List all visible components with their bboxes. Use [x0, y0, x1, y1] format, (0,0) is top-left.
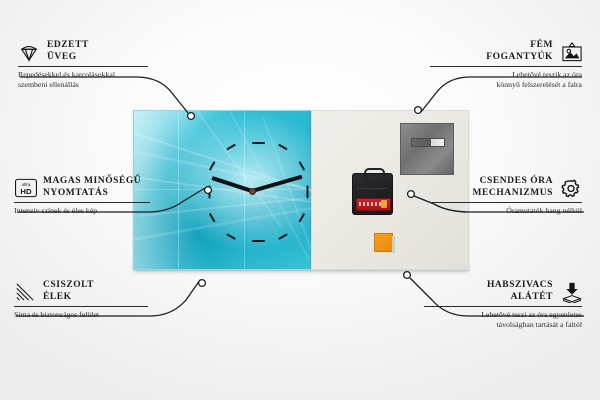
- picture-frame-hanger-icon: [560, 42, 582, 62]
- feature-description: Óramutatók hang nélkül: [430, 206, 582, 216]
- feature-description: Sima és biztonságos felület: [14, 310, 164, 320]
- feature-divider: [14, 202, 150, 203]
- feature-divider: [14, 306, 148, 307]
- svg-text:HD: HD: [20, 186, 32, 195]
- feature-quiet-mechanism: CSENDES ÓRA MECHANIZMUS Óramutatók hang …: [430, 176, 582, 216]
- ultra-hd-icon: ultra HD: [14, 178, 36, 198]
- clock-tick: [252, 240, 265, 242]
- product-image: [133, 110, 467, 270]
- clock-tick: [299, 161, 305, 170]
- feature-divider: [430, 202, 582, 203]
- feature-metal-hangers: FÉM FOGANTYÚK Lehetővé teszik az óra kön…: [430, 40, 582, 90]
- clock-mechanism-part: [352, 173, 393, 215]
- clock-tick: [226, 144, 235, 150]
- clock-tick: [226, 234, 235, 240]
- mechanism-loop: [364, 168, 385, 178]
- feature-divider: [18, 66, 148, 67]
- clock-tick: [278, 144, 287, 150]
- feature-title: MAGAS MINŐSÉGŰ NYOMTATÁS: [43, 176, 141, 199]
- feature-polished-edges: CSISZOLT ÉLEK Sima és biztonságos felüle…: [14, 280, 164, 320]
- battery-label: [359, 202, 381, 206]
- clock-center-hub: [249, 188, 256, 195]
- feature-title: EDZETT ÜVEG: [47, 40, 89, 63]
- feature-title: CSISZOLT ÉLEK: [43, 280, 94, 303]
- foam-pad-part: [374, 233, 393, 252]
- feature-high-quality-print: ultra HD MAGAS MINŐSÉGŰ NYOMTATÁS Intenz…: [14, 176, 174, 216]
- feature-title: CSENDES ÓRA MECHANIZMUS: [473, 176, 553, 199]
- clock-tick: [209, 213, 215, 222]
- feature-tempered-glass: EDZETT ÜVEG Repedésekkel és karcolásokka…: [18, 40, 170, 90]
- clock-tick: [278, 234, 287, 240]
- battery-terminal: [381, 200, 387, 208]
- feature-title: HABSZIVACS ALÁTÉT: [487, 280, 553, 303]
- foam-pad-edge: [392, 236, 395, 253]
- hanger-slot: [411, 138, 445, 147]
- clock-tick: [209, 186, 211, 199]
- feature-description: Repedésekkel és karcolásokkal szembeni e…: [18, 70, 170, 90]
- feature-description: Lehetővé teszik az óra könnyű felszerelé…: [430, 70, 582, 90]
- foam-pad-arrow-icon: [560, 282, 582, 302]
- feature-description: Lehetővé teszi az óra egyenletes távolsá…: [424, 310, 582, 330]
- feature-divider: [424, 306, 582, 307]
- polished-edge-icon: [14, 282, 36, 302]
- leader-endpoint-polished-edges: [199, 280, 206, 287]
- infographic-canvas: EDZETT ÜVEG Repedésekkel és karcolásokka…: [0, 0, 600, 400]
- clock-tick: [307, 186, 309, 199]
- feature-title: FÉM FOGANTYÚK: [486, 40, 553, 63]
- mechanism-seam: [357, 188, 387, 189]
- feature-divider: [430, 66, 582, 67]
- feature-foam-pad: HABSZIVACS ALÁTÉT Lehetővé teszi az óra …: [424, 280, 582, 330]
- gear-icon: [560, 178, 582, 198]
- feature-description: Intenzív színek és éles kép: [14, 206, 174, 216]
- battery-part: [356, 198, 391, 211]
- glass-seam: [178, 111, 179, 269]
- diamond-icon: [18, 42, 40, 62]
- metal-hanger-part: [400, 123, 454, 175]
- clock-tick: [252, 142, 265, 144]
